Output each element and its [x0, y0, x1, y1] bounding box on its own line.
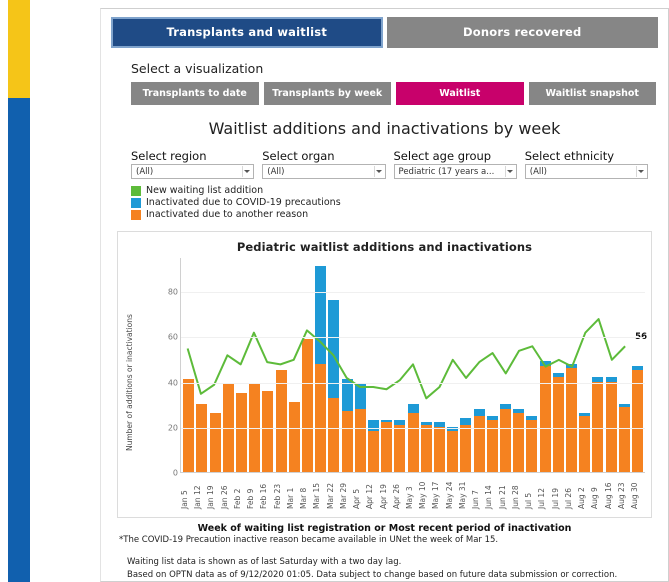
bar-column[interactable]: [235, 258, 248, 472]
vis-button-label: Waitlist snapshot: [546, 88, 639, 99]
bar-column[interactable]: [538, 258, 551, 472]
chevron-down-icon[interactable]: [505, 166, 514, 177]
x-tick-label: May 17: [432, 475, 445, 509]
bar-segment-other: [262, 391, 273, 472]
bar-column[interactable]: [631, 258, 644, 472]
filter-region-value: (All): [136, 167, 153, 177]
filter-region-label: Select region: [131, 150, 254, 163]
bar-segment-other: [394, 425, 405, 473]
bar-column[interactable]: [552, 258, 565, 472]
x-tick-label: Apr 12: [366, 475, 379, 509]
x-tick-label: Apr 26: [393, 475, 406, 509]
bar-column[interactable]: [591, 258, 604, 472]
filter-region-select[interactable]: (All): [131, 164, 254, 179]
bar-column[interactable]: [208, 258, 221, 472]
chart-legend: New waiting list addition Inactivated du…: [131, 185, 656, 220]
bar-segment-other: [474, 416, 485, 473]
bar-segment-other: [289, 402, 300, 472]
bar-segment-other: [619, 407, 630, 473]
plot-area: Number of additions or inactivations 020…: [118, 258, 651, 517]
bar-column[interactable]: [459, 258, 472, 472]
legend-label: Inactivated due to another reason: [146, 210, 308, 220]
x-tick-label: Apr 19: [380, 475, 393, 509]
bar-column[interactable]: [578, 258, 591, 472]
bar-segment-other: [421, 425, 432, 473]
bar-column[interactable]: [499, 258, 512, 472]
legend-swatch-green: [131, 186, 141, 196]
filter-organ-value: (All): [267, 167, 284, 177]
bar-segment-covid: [355, 384, 366, 409]
note-line: Waiting list data is shown as of last Sa…: [127, 556, 656, 568]
filter-ethnicity-select[interactable]: (All): [525, 164, 648, 179]
x-tick-label: Aug 9: [591, 475, 604, 509]
bar-column[interactable]: [354, 258, 367, 472]
bar-segment-covid: [315, 266, 326, 363]
x-tick-label: Jun 21: [499, 475, 512, 509]
vis-button-waitlist-snapshot[interactable]: Waitlist snapshot: [529, 82, 657, 106]
bar-column[interactable]: [525, 258, 538, 472]
bar-segment-other: [328, 398, 339, 473]
x-tick-label: Jan 5: [181, 475, 194, 509]
bar-segment-other: [408, 413, 419, 472]
bar-segment-covid: [408, 404, 419, 413]
gridline: [181, 428, 645, 429]
brand-stripe: [8, 0, 30, 582]
bar-segment-other: [368, 431, 379, 472]
vis-button-label: Waitlist: [439, 88, 480, 99]
x-tick-label: Jul 19: [552, 475, 565, 509]
bar-column[interactable]: [472, 258, 485, 472]
x-tick-label: Jul 12: [538, 475, 551, 509]
bar-segment-other: [579, 416, 590, 473]
vis-button-label: Transplants to date: [143, 88, 247, 99]
app-card: Transplants and waitlist Donors recovere…: [100, 8, 669, 582]
note-line: Based on OPTN data as of 9/12/2020 01:05…: [127, 569, 656, 581]
bar-column[interactable]: [340, 258, 353, 472]
x-tick-label: Mar 1: [287, 475, 300, 509]
tab-donors-recovered[interactable]: Donors recovered: [387, 17, 659, 48]
filter-ethnicity: Select ethnicity (All): [525, 150, 648, 179]
bar-column[interactable]: [248, 258, 261, 472]
bar-column[interactable]: [446, 258, 459, 472]
bar-column[interactable]: [261, 258, 274, 472]
card-body: Select a visualization Transplants to da…: [101, 61, 668, 581]
vis-button-waitlist[interactable]: Waitlist: [396, 82, 524, 106]
chevron-down-icon[interactable]: [242, 166, 251, 177]
bar-segment-other: [236, 393, 247, 472]
chart-panel: Pediatric waitlist additions and inactiv…: [117, 231, 652, 518]
filter-organ: Select organ (All): [262, 150, 385, 179]
x-tick-label: May 24: [446, 475, 459, 509]
bar-segment-other: [355, 409, 366, 472]
x-tick-label: Mar 29: [340, 475, 353, 509]
bar-column[interactable]: [486, 258, 499, 472]
x-tick-label: Aug 23: [618, 475, 631, 509]
filter-age-group-label: Select age group: [394, 150, 517, 163]
y-axis-ticks: 020406080: [150, 258, 178, 473]
legend-item-new-addition[interactable]: New waiting list addition: [131, 185, 656, 196]
brand-stripe-yellow: [8, 0, 30, 98]
bar-segment-other: [434, 427, 445, 472]
bar-segment-covid: [474, 409, 485, 416]
vis-button-transplants-by-week[interactable]: Transplants by week: [264, 82, 392, 106]
bar-segment-other: [381, 422, 392, 472]
bar-column[interactable]: [222, 258, 235, 472]
x-axis-caption: Week of waiting list registration or Mos…: [113, 523, 656, 534]
bar-column[interactable]: [605, 258, 618, 472]
plot-canvas: 56: [180, 258, 645, 473]
x-tick-label: Feb 16: [260, 475, 273, 509]
bar-column[interactable]: [314, 258, 327, 472]
x-tick-label: May 3: [406, 475, 419, 509]
vis-button-label: Transplants by week: [272, 88, 382, 99]
bar-column[interactable]: [380, 258, 393, 472]
bar-segment-covid: [460, 418, 471, 425]
gridline: [181, 383, 645, 384]
bar-column[interactable]: [433, 258, 446, 472]
bar-segment-covid: [342, 379, 353, 411]
filter-age-group-value: Pediatric (17 years a...: [399, 167, 495, 177]
bar-segment-other: [342, 411, 353, 472]
bar-segment-other: [210, 413, 221, 472]
x-tick-label: Feb 23: [274, 475, 287, 509]
bar-column[interactable]: [420, 258, 433, 472]
gridline: [181, 337, 645, 338]
bar-segment-other: [196, 404, 207, 472]
chart-footnote: *The COVID-19 Precaution inactive reason…: [119, 535, 656, 545]
bar-segment-other: [500, 409, 511, 472]
x-tick-label: Jul 26: [565, 475, 578, 509]
bar-column[interactable]: [301, 258, 314, 472]
bar-column[interactable]: [274, 258, 287, 472]
bar-column[interactable]: [195, 258, 208, 472]
y-tick-label: 60: [158, 333, 178, 342]
bar-segment-other: [447, 431, 458, 472]
filter-organ-select[interactable]: (All): [262, 164, 385, 179]
bar-column[interactable]: [367, 258, 380, 472]
bar-column[interactable]: [565, 258, 578, 472]
x-tick-label: Feb 2: [234, 475, 247, 509]
filter-organ-label: Select organ: [262, 150, 385, 163]
bar-segment-other: [183, 379, 194, 472]
bar-column[interactable]: [327, 258, 340, 472]
chevron-down-icon[interactable]: [636, 166, 645, 177]
gridline: [181, 292, 645, 293]
y-tick-label: 0: [158, 469, 178, 478]
bar-column[interactable]: [182, 258, 195, 472]
page-title: Waitlist additions and inactivations by …: [113, 119, 656, 138]
tab-label: Donors recovered: [463, 25, 581, 39]
x-tick-label: Jan 26: [221, 475, 234, 509]
legend-swatch-blue: [131, 198, 141, 208]
visualization-button-group: Transplants to date Transplants by week …: [131, 82, 656, 106]
tab-label: Transplants and waitlist: [166, 25, 327, 39]
select-visualization-label: Select a visualization: [131, 61, 656, 76]
legend-item-covid-inactivation[interactable]: Inactivated due to COVID-19 precautions: [131, 197, 656, 208]
bar-segment-other: [513, 413, 524, 472]
x-axis-labels: Jan 5Jan 12Jan 19Jan 26Feb 2Feb 9Feb 16F…: [180, 475, 645, 509]
bar-segment-other: [632, 370, 643, 472]
bar-segment-other: [302, 339, 313, 473]
y-axis-title: Number of additions or inactivations: [125, 298, 137, 468]
bar-column[interactable]: [406, 258, 419, 472]
filter-ethnicity-value: (All): [530, 167, 547, 177]
brand-stripe-blue: [8, 98, 30, 582]
legend-label: Inactivated due to COVID-19 precautions: [146, 198, 341, 208]
bar-segment-other: [592, 382, 603, 473]
x-tick-label: Mar 22: [327, 475, 340, 509]
chevron-down-icon[interactable]: [374, 166, 383, 177]
tab-bar: Transplants and waitlist Donors recovere…: [101, 9, 668, 48]
x-tick-label: Mar 15: [313, 475, 326, 509]
x-tick-label: Jan 19: [207, 475, 220, 509]
tab-transplants-and-waitlist[interactable]: Transplants and waitlist: [111, 17, 383, 48]
filter-age-group-select[interactable]: Pediatric (17 years a...: [394, 164, 517, 179]
x-tick-label: Jun 28: [512, 475, 525, 509]
legend-label: New waiting list addition: [146, 186, 263, 196]
filter-region: Select region (All): [131, 150, 254, 179]
bar-column[interactable]: [393, 258, 406, 472]
bar-segment-covid: [368, 420, 379, 431]
vis-button-transplants-to-date[interactable]: Transplants to date: [131, 82, 259, 106]
bar-segment-other: [566, 368, 577, 472]
y-tick-label: 40: [158, 378, 178, 387]
bar-column[interactable]: [288, 258, 301, 472]
bar-column[interactable]: [618, 258, 631, 472]
filter-ethnicity-label: Select ethnicity: [525, 150, 648, 163]
data-notes: Waiting list data is shown as of last Sa…: [127, 556, 656, 581]
filter-bar: Select region (All) Select organ (All) S…: [131, 150, 656, 179]
bar-segment-other: [606, 382, 617, 473]
chart-subtitle: Pediatric waitlist additions and inactiv…: [118, 232, 651, 254]
x-tick-label: Aug 30: [631, 475, 644, 509]
bar-column[interactable]: [512, 258, 525, 472]
bar-segment-other: [315, 364, 326, 473]
bar-segment-other: [460, 425, 471, 473]
bar-segment-other: [276, 370, 287, 472]
filter-age-group: Select age group Pediatric (17 years a..…: [394, 150, 517, 179]
x-tick-label: Aug 16: [605, 475, 618, 509]
legend-swatch-orange: [131, 210, 141, 220]
legend-item-other-inactivation[interactable]: Inactivated due to another reason: [131, 209, 656, 220]
bar-segment-other: [553, 377, 564, 472]
bar-series: [181, 258, 645, 472]
y-tick-label: 20: [158, 423, 178, 432]
y-tick-label: 80: [158, 288, 178, 297]
x-tick-label: May 31: [459, 475, 472, 509]
x-tick-label: Jun 14: [485, 475, 498, 509]
